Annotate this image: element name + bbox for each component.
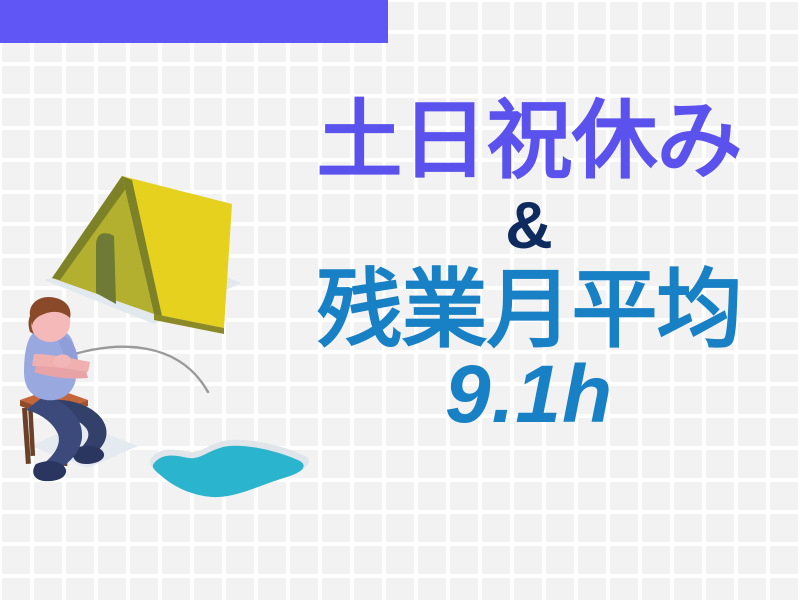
headline-line-overtime-label: 残業月平均 [258, 268, 800, 352]
top-left-accent-bar [0, 0, 388, 43]
headline-ampersand: & [258, 183, 800, 267]
headline-line-holidays: 土日祝休み [258, 100, 800, 183]
poster-canvas: 土日祝休み & 残業月平均 9.1h [0, 0, 800, 600]
fisherman-front-shoe [33, 461, 66, 481]
headline-line-overtime-hours: 9.1h [258, 352, 800, 438]
headline-block: 土日祝休み & 残業月平均 9.1h [258, 100, 800, 438]
tent-door-arch [96, 233, 116, 304]
